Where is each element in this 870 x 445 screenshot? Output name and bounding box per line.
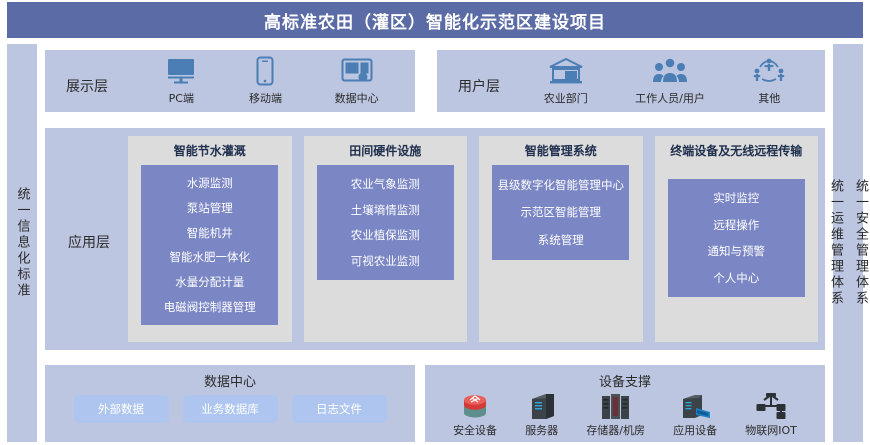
rail-information-standard: 统一信息化标准 xyxy=(7,44,37,442)
government-building-icon xyxy=(548,54,584,88)
app-card-items: 实时监控 远程操作 通知与预警 个人中心 xyxy=(668,179,805,297)
app-card-title: 田间硬件设施 xyxy=(345,144,425,160)
equip-item-security[interactable]: 安全设备 xyxy=(453,387,497,438)
equip-item-iot[interactable]: 物联网IOT xyxy=(745,387,797,438)
data-center-band: 数据中心 外部数据 业务数据库 日志文件 xyxy=(45,365,415,442)
app-card-item[interactable]: 水量分配计量 xyxy=(175,273,244,291)
app-card-item[interactable]: 县级数字化智能管理中心 xyxy=(497,176,624,194)
page-title: 高标准农田（灌区）智能化示范区建设项目 xyxy=(7,2,863,38)
data-center-pill-business-db[interactable]: 业务数据库 xyxy=(183,395,278,423)
user-item-agri-dept-label: 农业部门 xyxy=(544,90,588,106)
user-layer-label: 用户层 xyxy=(458,76,500,96)
equipment-support-band: 设备支撑 安全设备 xyxy=(425,365,825,442)
data-center-pills: 外部数据 业务数据库 日志文件 xyxy=(45,395,415,423)
data-center-heading: 数据中心 xyxy=(45,371,415,390)
app-card-item[interactable]: 可视农业监测 xyxy=(351,252,420,270)
app-card-item[interactable]: 智能水肥一体化 xyxy=(169,248,250,266)
user-item-other[interactable]: 其他 xyxy=(752,54,786,106)
equip-item-application-device[interactable]: 应用设备 xyxy=(673,387,717,438)
app-card-items: 水源监测 泵站管理 智能机井 智能水肥一体化 水量分配计量 电磁阀控制器管理 xyxy=(141,165,278,325)
people-cycle-icon xyxy=(752,54,786,88)
app-card-item[interactable]: 土壤墒情监测 xyxy=(351,201,420,219)
storage-rack-icon xyxy=(599,387,633,421)
display-item-datacenter[interactable]: 数据中心 xyxy=(335,54,379,106)
equip-item-security-label: 安全设备 xyxy=(453,422,497,438)
display-item-pc[interactable]: PC端 xyxy=(166,54,196,106)
equip-item-iot-label: 物联网IOT xyxy=(745,422,797,438)
app-card-management-system[interactable]: 智能管理系统 县级数字化智能管理中心 示范区智能管理 系统管理 xyxy=(479,136,643,342)
display-item-mobile[interactable]: 移动端 xyxy=(249,54,282,106)
display-item-pc-label: PC端 xyxy=(169,90,194,106)
users-group-icon xyxy=(653,54,687,88)
application-device-icon xyxy=(679,387,711,421)
user-item-staff[interactable]: 工作人员/用户 xyxy=(635,54,705,106)
user-item-staff-label: 工作人员/用户 xyxy=(635,90,705,106)
app-card-item[interactable]: 电磁阀控制器管理 xyxy=(164,298,256,316)
user-layer-icons: 农业部门 工作人员/用户 xyxy=(520,54,810,108)
display-layer-icons: PC端 移动端 数据中心 xyxy=(140,54,405,108)
monitor-icon xyxy=(166,54,196,88)
router-security-icon xyxy=(459,387,491,421)
rail-right-top-label: 统一安全管理体系 xyxy=(851,179,870,307)
dashboard-tablet-icon xyxy=(341,54,373,88)
display-item-mobile-label: 移动端 xyxy=(249,90,282,106)
app-card-item[interactable]: 水源监测 xyxy=(187,174,233,192)
app-card-title: 智能节水灌溉 xyxy=(170,144,250,160)
architecture-diagram: 高标准农田（灌区）智能化示范区建设项目 统一信息化标准 统一安全管理体系 统一运… xyxy=(0,0,870,445)
app-card-items: 农业气象监测 土壤墒情监测 农业植保监测 可视农业监测 xyxy=(317,165,454,280)
data-center-pill-logs[interactable]: 日志文件 xyxy=(292,395,387,423)
equipment-support-icons: 安全设备 服务器 xyxy=(425,387,825,438)
rail-management-systems: 统一安全管理体系 统一运维管理体系 xyxy=(833,44,863,442)
application-layer-label: 应用层 xyxy=(68,232,110,252)
app-card-field-hardware[interactable]: 田间硬件设施 农业气象监测 土壤墒情监测 农业植保监测 可视农业监测 xyxy=(304,136,468,342)
app-card-item[interactable]: 实时监控 xyxy=(713,189,759,207)
app-card-item[interactable]: 个人中心 xyxy=(713,269,759,287)
equip-item-storage[interactable]: 存储器/机房 xyxy=(586,387,645,438)
app-card-item[interactable]: 通知与预警 xyxy=(707,242,765,260)
iot-network-icon xyxy=(755,387,787,421)
user-item-agri-dept[interactable]: 农业部门 xyxy=(544,54,588,106)
app-card-terminal-transmission[interactable]: 终端设备及无线远程传输 实时监控 远程操作 通知与预警 个人中心 xyxy=(655,136,819,342)
equip-item-storage-label: 存储器/机房 xyxy=(586,422,645,438)
display-layer-label: 展示层 xyxy=(66,76,108,96)
equip-item-application-device-label: 应用设备 xyxy=(673,422,717,438)
user-item-other-label: 其他 xyxy=(758,90,780,106)
app-card-item[interactable]: 农业气象监测 xyxy=(351,175,420,193)
app-card-item[interactable]: 示范区智能管理 xyxy=(520,203,601,221)
display-item-datacenter-label: 数据中心 xyxy=(335,90,379,106)
app-card-title: 终端设备及无线远程传输 xyxy=(666,144,806,174)
server-tower-icon xyxy=(528,387,556,421)
rail-right-bottom-label: 统一运维管理体系 xyxy=(826,179,845,307)
equip-item-server[interactable]: 服务器 xyxy=(525,387,558,438)
app-card-item[interactable]: 远程操作 xyxy=(713,216,759,234)
data-center-pill-external[interactable]: 外部数据 xyxy=(74,395,169,423)
mobile-icon xyxy=(255,54,275,88)
rail-left-label: 统一信息化标准 xyxy=(13,187,32,299)
equip-item-server-label: 服务器 xyxy=(525,422,558,438)
app-card-item[interactable]: 泵站管理 xyxy=(187,199,233,217)
app-card-item[interactable]: 系统管理 xyxy=(538,231,584,249)
app-card-title: 智能管理系统 xyxy=(521,144,601,160)
app-card-item[interactable]: 农业植保监测 xyxy=(351,226,420,244)
app-card-smart-irrigation[interactable]: 智能节水灌溉 水源监测 泵站管理 智能机井 智能水肥一体化 水量分配计量 电磁阀… xyxy=(128,136,292,342)
application-layer-cards: 智能节水灌溉 水源监测 泵站管理 智能机井 智能水肥一体化 水量分配计量 电磁阀… xyxy=(128,136,818,342)
app-card-item[interactable]: 智能机井 xyxy=(187,224,233,242)
app-card-items: 县级数字化智能管理中心 示范区智能管理 系统管理 xyxy=(492,165,629,260)
